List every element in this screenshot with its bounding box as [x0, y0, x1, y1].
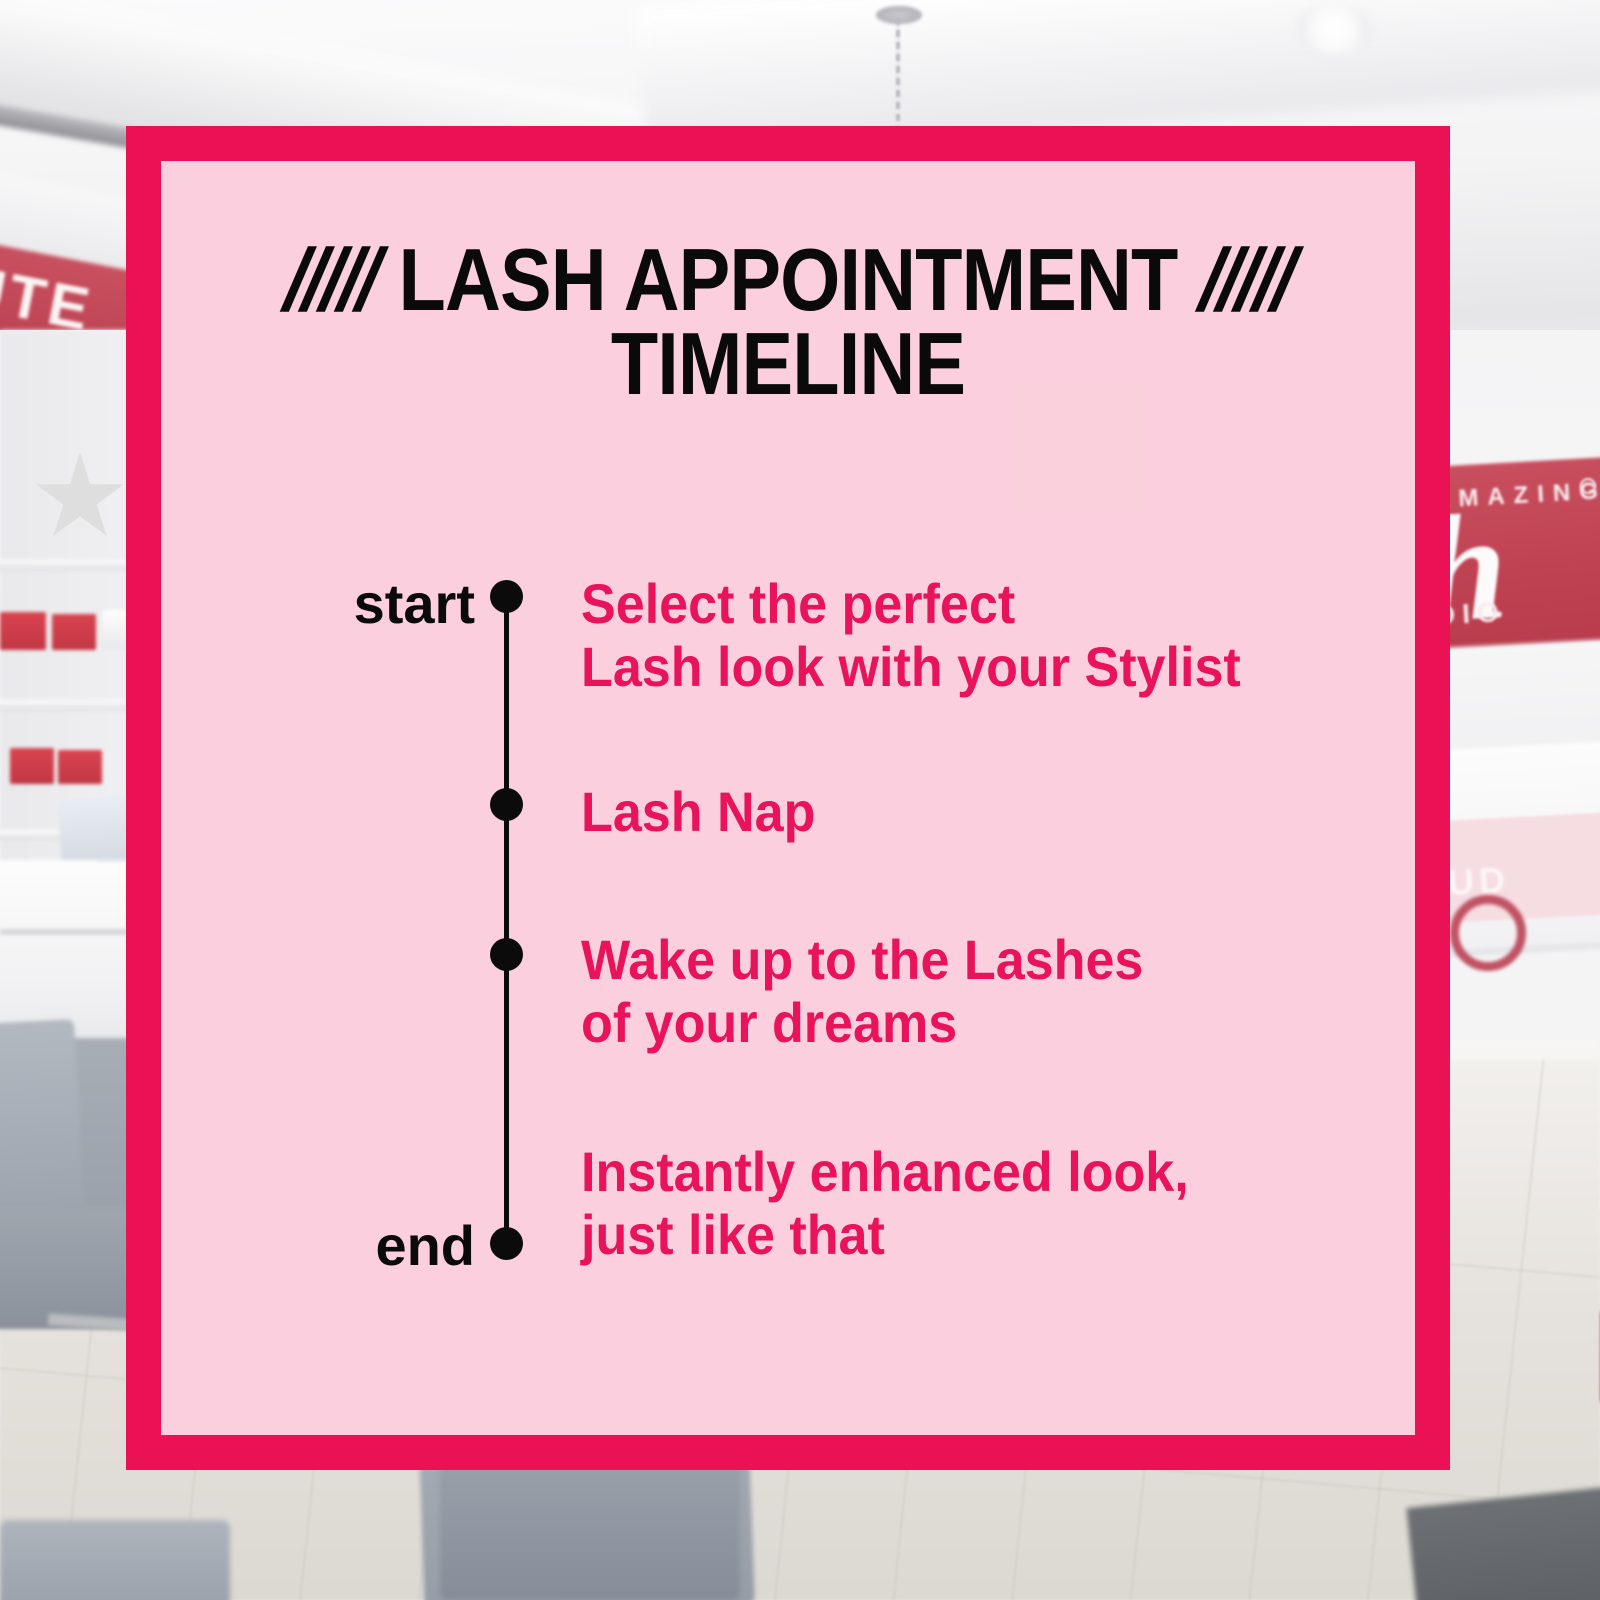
chandelier-chain	[896, 18, 900, 136]
grey-sofa-bottom-left	[0, 1520, 230, 1600]
timeline-node-1-text: Select the perfect Lash look with your S…	[581, 572, 1241, 699]
timeline-dot-2	[490, 788, 523, 821]
desk-logo-circle-icon	[1450, 895, 1526, 971]
slashes-right-decor-icon: /////	[1196, 238, 1294, 322]
title-text-line-2: TIMELINE	[236, 322, 1340, 406]
timeline-dot-4	[490, 1227, 523, 1260]
page-title: /////LASH APPOINTMENT///// TIMELINE	[161, 238, 1415, 405]
timeline-node-3-text: Wake up to the Lashes of your dreams	[581, 928, 1143, 1055]
slashes-left-decor-icon: /////	[282, 238, 380, 322]
timeline-node-4-text: Instantly enhanced look, just like that	[581, 1140, 1189, 1267]
timeline-dot-1	[490, 580, 523, 613]
product-box-1	[0, 612, 46, 650]
product-box-4	[10, 748, 54, 784]
product-box-5	[58, 750, 102, 784]
timeline-end-label: end	[375, 1218, 475, 1274]
timeline: start Select the perfect Lash look with …	[161, 560, 1415, 1300]
timeline-axis-line	[504, 596, 509, 1250]
timeline-dot-3	[490, 938, 523, 971]
timeline-start-label: start	[354, 576, 475, 632]
title-line-1: /////LASH APPOINTMENT/////	[236, 238, 1340, 322]
product-box-2	[52, 614, 96, 650]
recessed-light-1	[1295, 5, 1373, 53]
timeline-node-2-text: Lash Nap	[581, 780, 815, 843]
poster-canvas: UTE lash lash SEXY GORGEOUS	[0, 0, 1600, 1600]
sofa-bottom-cushion	[440, 1450, 740, 1600]
